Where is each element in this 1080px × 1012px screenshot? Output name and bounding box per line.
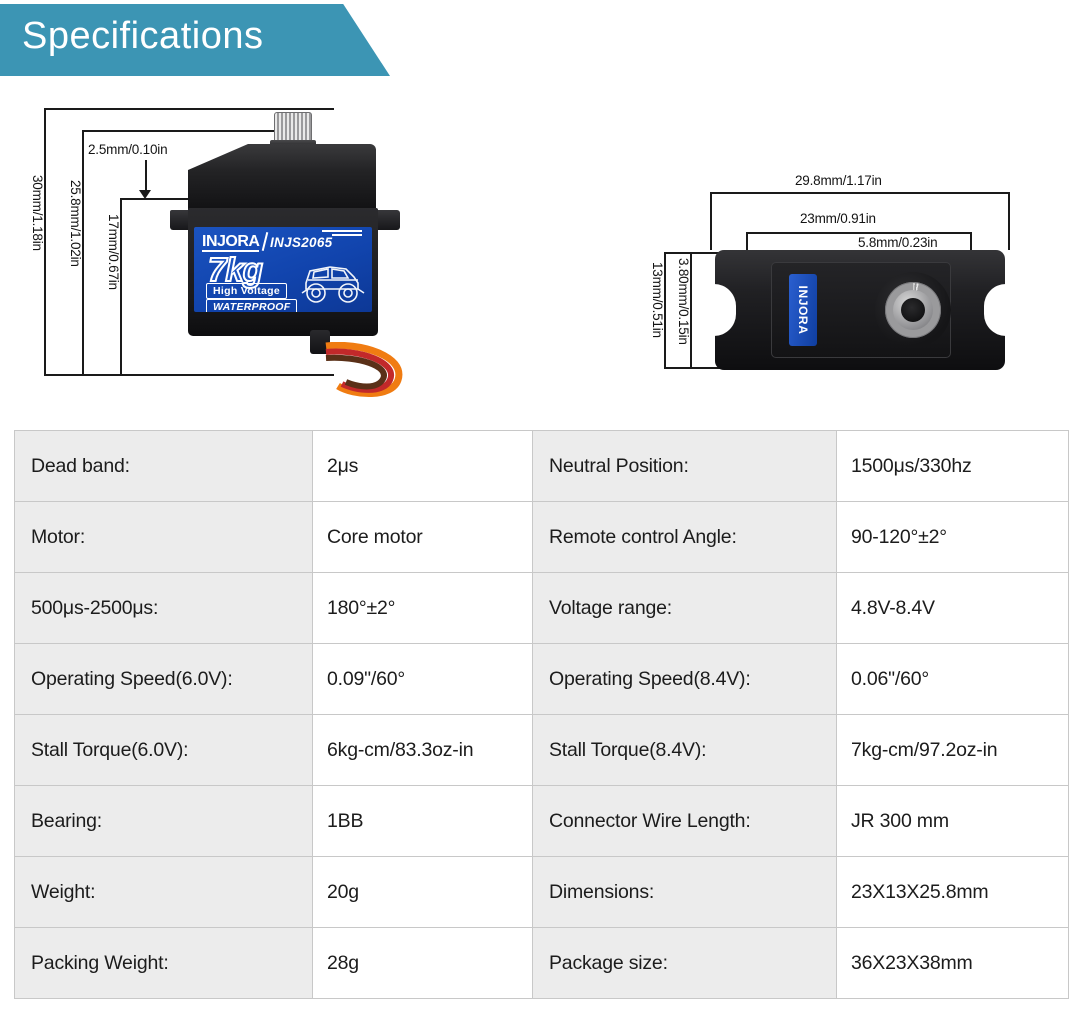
spec-key: Neutral Position:	[533, 431, 837, 502]
table-row: Weight: 20g Dimensions: 23X13X25.8mm	[15, 857, 1069, 928]
spline-bore	[901, 298, 925, 322]
dim-label-mount-width: 29.8mm/1.17in	[795, 173, 882, 188]
label-model-text: INJS2065	[270, 235, 332, 250]
dim-label-body-height: 17mm/0.67in	[106, 214, 121, 290]
spec-value: 4.8V-8.4V	[837, 573, 1069, 644]
servo-side-image: INJORA INJS2065 7kg High Voltage WATERPR…	[170, 102, 410, 382]
spec-value: 20g	[313, 857, 533, 928]
spec-value: JR 300 mm	[837, 786, 1069, 857]
spec-value: 28g	[313, 928, 533, 999]
spec-table-body: Dead band: 2μs Neutral Position: 1500μs/…	[15, 431, 1069, 999]
spec-value: Core motor	[313, 502, 533, 573]
spec-value: 2μs	[313, 431, 533, 502]
servo-top-image: INJORA	[715, 250, 1005, 370]
label-badge-waterproof: WATERPROOF	[206, 299, 297, 312]
spec-key: Bearing:	[15, 786, 313, 857]
spec-value: 180°±2°	[313, 573, 533, 644]
spec-value: 6kg-cm/83.3oz-in	[313, 715, 533, 786]
dim-label-spline-offset: 5.8mm/0.23in	[858, 235, 937, 250]
spec-value: 1500μs/330hz	[837, 431, 1069, 502]
dim-arrow-head	[139, 190, 151, 199]
spec-key: Operating Speed(6.0V):	[15, 644, 313, 715]
dimline-mount-width	[710, 192, 1010, 194]
table-row: Packing Weight: 28g Package size: 36X23X…	[15, 928, 1069, 999]
spec-key: Connector Wire Length:	[533, 786, 837, 857]
label-torque-text: 7kg	[208, 253, 262, 287]
label-slash	[262, 232, 269, 251]
spec-key: Voltage range:	[533, 573, 837, 644]
dim-label-case-height: 25.8mm/1.02in	[68, 180, 83, 267]
label-speedline-1	[322, 230, 362, 232]
header-banner: Specifications	[0, 4, 400, 76]
dim-label-tab-thickness: 2.5mm/0.10in	[88, 142, 167, 157]
dimline-mount-right	[1008, 192, 1010, 250]
spec-key: Dimensions:	[533, 857, 837, 928]
spec-value: 0.09"/60°	[313, 644, 533, 715]
spec-key: Weight:	[15, 857, 313, 928]
label-badge-high-voltage: High Voltage	[206, 283, 287, 299]
dim-label-body-width: 23mm/0.91in	[800, 211, 876, 226]
table-row: Stall Torque(6.0V): 6kg-cm/83.3oz-in Sta…	[15, 715, 1069, 786]
product-label-top: INJORA	[789, 274, 817, 346]
servo-top-case	[188, 144, 376, 212]
label-speedline-2	[332, 234, 362, 236]
spec-value: 36X23X38mm	[837, 928, 1069, 999]
table-row: 500μs-2500μs: 180°±2° Voltage range: 4.8…	[15, 573, 1069, 644]
spec-value: 7kg-cm/97.2oz-in	[837, 715, 1069, 786]
dimline-depth-top	[664, 252, 720, 254]
servo-cable-icon	[320, 342, 420, 402]
spec-value: 1BB	[313, 786, 533, 857]
spec-key: Stall Torque(8.4V):	[533, 715, 837, 786]
rc-crawler-truck-icon	[296, 249, 368, 307]
specifications-table: Dead band: 2μs Neutral Position: 1500μs/…	[14, 430, 1069, 999]
label-brand-text-top: INJORA	[796, 286, 810, 335]
product-label-side: INJORA INJS2065 7kg High Voltage WATERPR…	[194, 227, 372, 312]
dim-label-tab-thickness-top: 3.80mm/0.15in	[676, 258, 691, 345]
table-row: Bearing: 1BB Connector Wire Length: JR 3…	[15, 786, 1069, 857]
spec-value: 23X13X25.8mm	[837, 857, 1069, 928]
spec-value: 90-120°±2°	[837, 502, 1069, 573]
dim-label-body-depth: 13mm/0.51in	[650, 262, 665, 338]
label-brand-text: INJORA	[202, 233, 259, 252]
table-row: Motor: Core motor Remote control Angle: …	[15, 502, 1069, 573]
table-row: Operating Speed(6.0V): 0.09"/60° Operati…	[15, 644, 1069, 715]
spec-key: Packing Weight:	[15, 928, 313, 999]
table-row: Dead band: 2μs Neutral Position: 1500μs/…	[15, 431, 1069, 502]
spec-value: 0.06"/60°	[837, 644, 1069, 715]
dim-label-overall-height: 30mm/1.18in	[30, 175, 45, 251]
dim-arrow-shaft	[145, 160, 147, 194]
spec-key: Package size:	[533, 928, 837, 999]
spec-key: Operating Speed(8.4V):	[533, 644, 837, 715]
page-title: Specifications	[22, 15, 263, 58]
spec-key: 500μs-2500μs:	[15, 573, 313, 644]
specification-sheet: Specifications 30mm/1.18in 25.8mm/1.02in…	[0, 0, 1080, 1012]
product-figures: 30mm/1.18in 25.8mm/1.02in 17mm/0.67in 2.…	[0, 80, 1080, 420]
spec-key: Motor:	[15, 502, 313, 573]
spec-key: Stall Torque(6.0V):	[15, 715, 313, 786]
dimline-mount-left	[710, 192, 712, 250]
spec-key: Dead band:	[15, 431, 313, 502]
dimline-depth-bottom	[664, 367, 720, 369]
spec-key: Remote control Angle:	[533, 502, 837, 573]
dimline-body-width	[746, 232, 972, 234]
